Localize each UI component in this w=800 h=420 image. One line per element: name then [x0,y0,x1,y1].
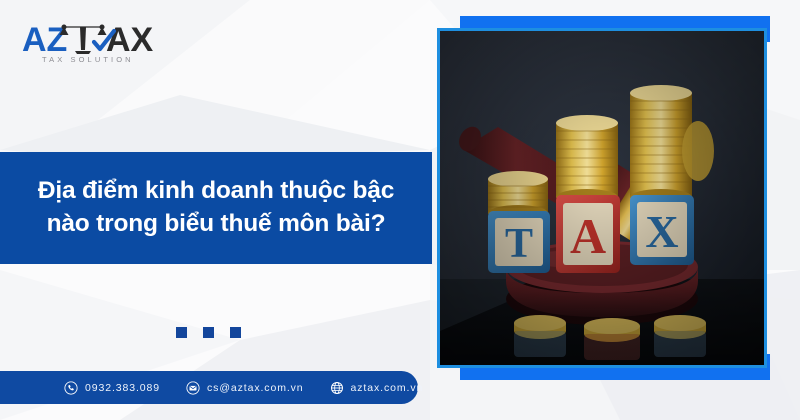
phone-icon [64,381,78,395]
aztax-logo-icon: AZ AX [22,18,172,58]
logo-text-ax: AX [106,21,154,58]
decorative-squares [176,327,241,338]
contact-email[interactable]: cs@aztax.com.vn [186,381,304,395]
brand-logo[interactable]: AZ AX TAX SOLUTION [22,18,172,70]
logo-pillar [80,27,86,50]
contact-email-label: cs@aztax.com.vn [207,382,304,394]
headline-band: Địa điểm kinh doanh thuộc bậc nào trong … [0,152,432,264]
promotional-banner: AZ AX TAX SOLUTION Địa điểm [0,0,800,420]
logo-base [75,51,91,54]
headline-line-2: nào trong biểu thuế môn bài? [47,210,386,237]
hero-image-frame: T [437,28,767,368]
decorative-square [176,327,187,338]
brand-tagline: TAX SOLUTION [42,55,134,64]
contact-phone-label: 0932.383.089 [85,382,160,394]
contact-website[interactable]: aztax.com.vn [330,381,424,395]
envelope-icon [186,381,200,395]
logo-mark: AZ AX [22,18,172,56]
gavel-tax-photo: T [440,31,764,365]
hero-image-container: T [437,28,767,368]
decorative-square [203,327,214,338]
contact-phone[interactable]: 0932.383.089 [64,381,160,395]
decorative-square [230,327,241,338]
page-title: Địa điểm kinh doanh thuộc bậc nào trong … [24,175,408,241]
globe-icon [330,381,344,395]
contact-website-label: aztax.com.vn [351,382,424,394]
contact-bar: 0932.383.089 cs@aztax.com.vn aztax.com.v… [0,371,418,404]
headline-line-1: Địa điểm kinh doanh thuộc bậc [38,177,394,204]
logo-text-az: AZ [22,21,67,58]
